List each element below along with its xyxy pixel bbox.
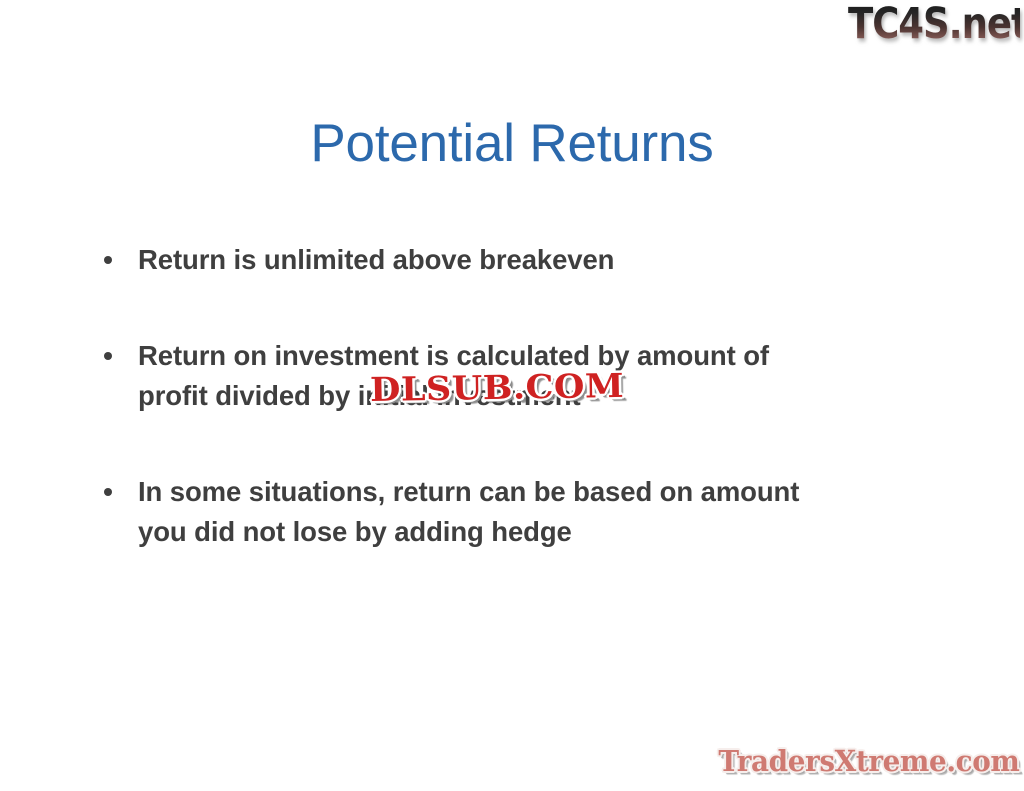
bullet-dot-icon [104, 256, 112, 264]
presentation-slide: TC4S.net Potential Returns Return is unl… [0, 0, 1024, 791]
tc4s-watermark: TC4S.net [848, 0, 1020, 54]
bullet-line: you did not lose by adding hedge [138, 512, 956, 552]
tradersxtreme-watermark-text: TradersXtreme.com [718, 744, 1019, 778]
dlsub-watermark: DLSUB.COM [370, 367, 625, 409]
bullet-line: Return is unlimited above breakeven [138, 240, 956, 280]
bullet-dot-icon [104, 352, 112, 360]
bullet-dot-icon [104, 488, 112, 496]
bullet-item: In some situations, return can be based … [96, 472, 956, 552]
slide-title: Potential Returns [0, 112, 1024, 176]
tradersxtreme-watermark: TradersXtreme.com [718, 743, 1016, 779]
bullet-line: In some situations, return can be based … [138, 472, 956, 512]
bullet-item: Return is unlimited above breakeven [96, 240, 956, 280]
